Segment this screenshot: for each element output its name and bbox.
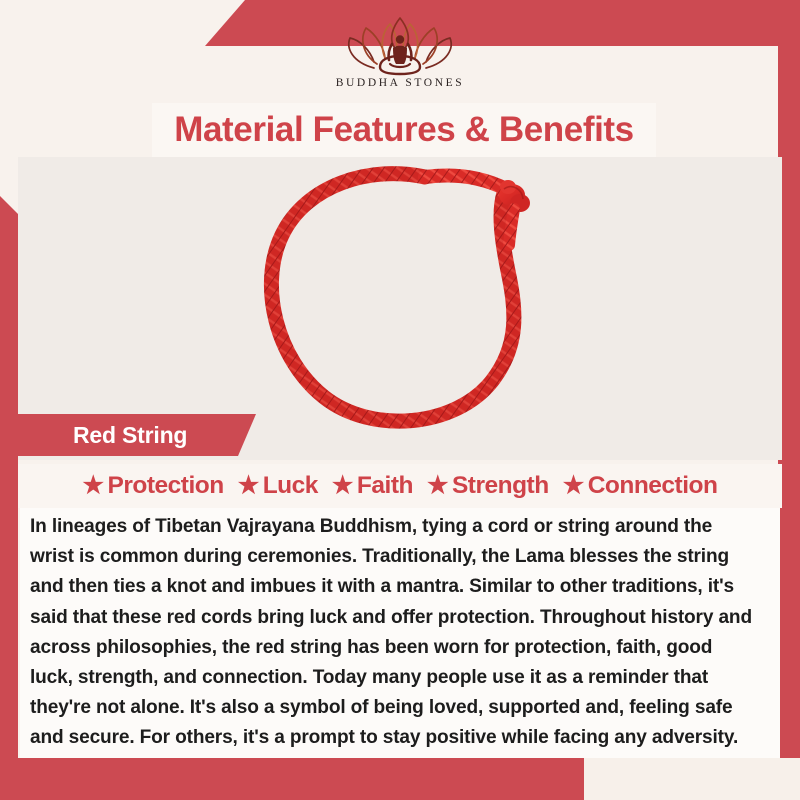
- description-text: In lineages of Tibetan Vajrayana Buddhis…: [30, 512, 758, 754]
- star-icon: ★: [563, 474, 584, 498]
- bottom-right-cream-fill-decoration: [584, 758, 800, 800]
- benefit-label: Strength: [452, 472, 549, 500]
- brand-name: BUDDHA STONES: [336, 77, 464, 89]
- benefit-label: Luck: [263, 472, 318, 500]
- benefit-label: Faith: [357, 472, 413, 500]
- left-red-band-decoration: [0, 196, 18, 800]
- brand-header: BUDDHA STONES: [0, 0, 800, 100]
- product-label: Red String: [18, 422, 187, 449]
- product-label-ribbon: Red String: [18, 414, 256, 456]
- benefit-item-luck: ★ Luck: [233, 472, 323, 500]
- benefit-label: Connection: [588, 472, 718, 500]
- title-banner: Material Features & Benefits: [152, 103, 656, 157]
- benefit-item-strength: ★ Strength: [422, 472, 554, 500]
- star-icon: ★: [83, 474, 104, 498]
- benefits-row: ★ Protection ★ Luck ★ Faith ★ Strength ★…: [18, 464, 782, 508]
- star-icon: ★: [238, 474, 259, 498]
- brand-logo: BUDDHA STONES: [336, 14, 464, 89]
- benefit-item-protection: ★ Protection: [78, 472, 229, 500]
- benefit-item-connection: ★ Connection: [558, 472, 723, 500]
- infographic-canvas: BUDDHA STONES Material Features & Benefi…: [0, 0, 800, 800]
- benefit-label: Protection: [108, 472, 224, 500]
- star-icon: ★: [332, 474, 353, 498]
- benefit-item-faith: ★ Faith: [327, 472, 418, 500]
- page-title: Material Features & Benefits: [174, 110, 634, 150]
- star-icon: ★: [427, 474, 448, 498]
- lotus-meditation-icon: [340, 14, 460, 76]
- description-panel: In lineages of Tibetan Vajrayana Buddhis…: [20, 508, 780, 758]
- red-braided-string-bracelet-illustration: [220, 159, 590, 437]
